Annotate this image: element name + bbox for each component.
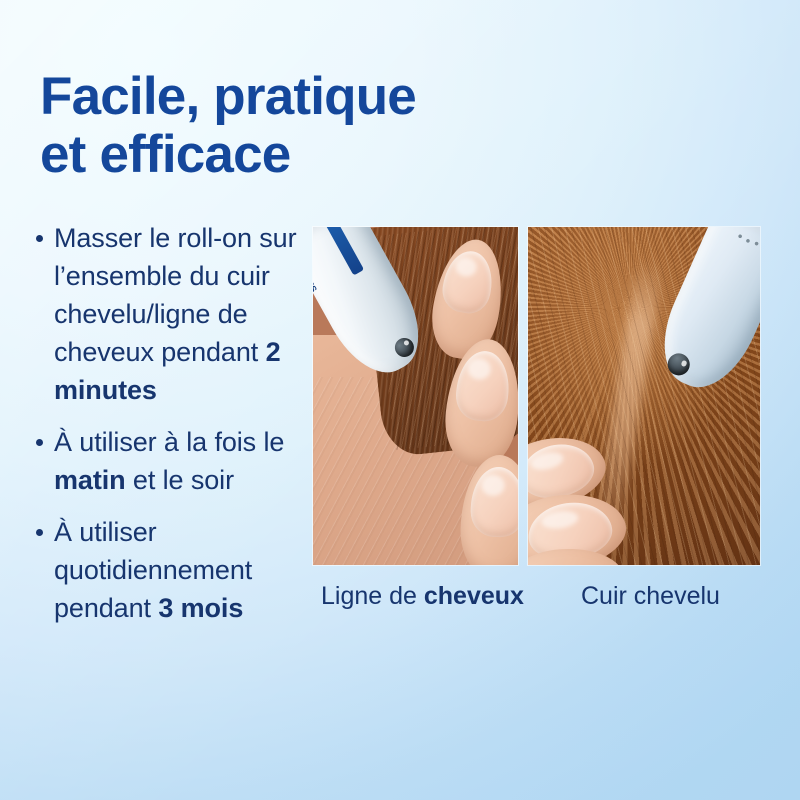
list-item-text-bold: 3 mois (158, 593, 243, 623)
photo-hairline: RTS (313, 227, 518, 565)
page-title-line-1: Facile, pratique (40, 68, 580, 126)
list-item: À utiliser quotidiennement pendant 3 moi… (34, 513, 302, 627)
photo-gallery: RTS (313, 227, 760, 565)
photo-scalp (528, 227, 760, 565)
page-title: Facile, pratique et efficace (40, 68, 580, 184)
caption-hairline-prefix: Ligne de (321, 582, 424, 610)
caption-hairline-bold: cheveux (424, 582, 524, 610)
bullet-dot-icon (36, 235, 43, 242)
photo-captions: Ligne de cheveux Cuir chevelu (313, 580, 760, 616)
list-item-text-bold: matin (54, 465, 126, 495)
bullet-dot-icon (36, 439, 43, 446)
list-item: À utiliser à la fois le matin et le soir (34, 423, 302, 499)
caption-scalp: Cuir chevelu (581, 580, 720, 612)
list-item-text-before: À utiliser à la fois le (54, 427, 284, 457)
list-item: Masser le roll-on sur l’ensemble du cuir… (34, 219, 302, 409)
promo-poster: Facile, pratique et efficace Masser le r… (0, 0, 800, 800)
bullet-dot-icon (36, 529, 43, 536)
list-item-text-after: et le soir (126, 465, 234, 495)
list-item-text-before: Masser le roll-on sur l’ensemble du cuir… (54, 223, 296, 367)
caption-hairline: Ligne de cheveux (321, 580, 524, 612)
instructions-list: Masser le roll-on sur l’ensemble du cuir… (34, 219, 302, 627)
page-title-line-2: et efficace (40, 126, 580, 184)
